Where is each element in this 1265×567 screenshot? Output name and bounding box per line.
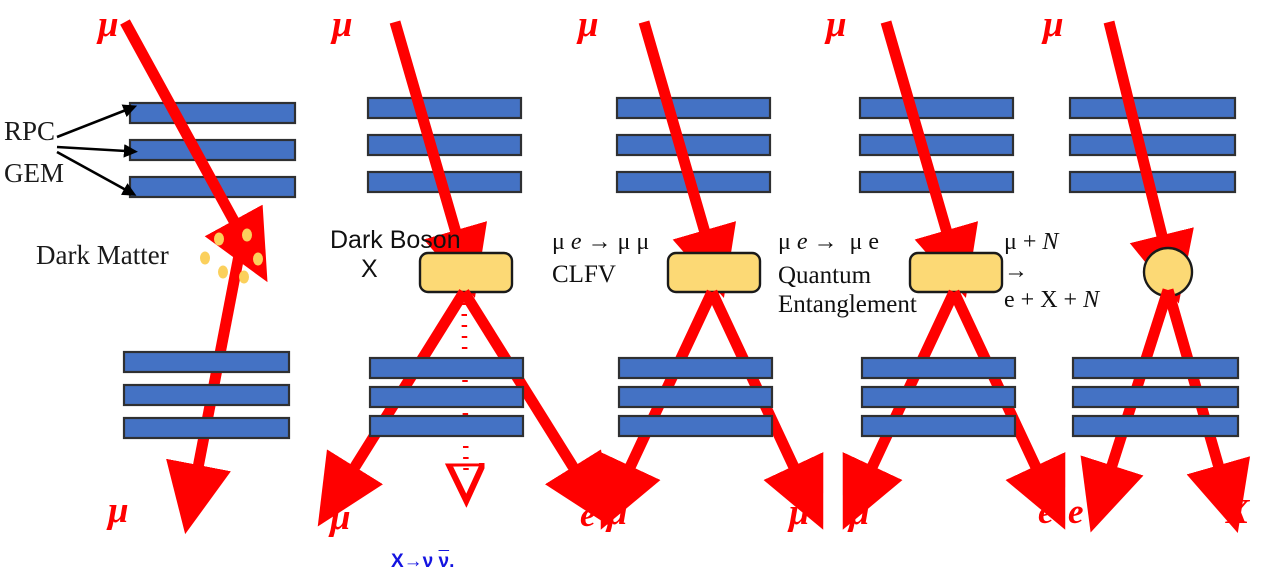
- detector-plane: [1073, 416, 1238, 436]
- detector-plane: [124, 418, 289, 438]
- detector-plane: [860, 135, 1013, 155]
- incoming-muon-label: μ: [826, 4, 847, 45]
- annotation-arrow-icon: [57, 110, 126, 137]
- annotation-arrow-icon: [57, 147, 126, 151]
- conversion-formula-line1-prefix: μ +: [1004, 229, 1042, 255]
- entanglement-formula: μ e → μ e: [778, 229, 879, 256]
- target-nucleus: [1144, 248, 1192, 296]
- outgoing-electron-track: [1108, 290, 1168, 478]
- entanglement-process-name-line2: Entanglement: [778, 291, 917, 319]
- dark-matter-dot: [239, 271, 249, 284]
- detector-plane: [1070, 98, 1235, 118]
- detector-plane: [619, 387, 772, 407]
- conversion-formula-arrow: →: [1004, 258, 1028, 285]
- dark-boson-caption: Dark Boson: [330, 226, 461, 254]
- decay-mode-neutrinos-suffix: ,: [449, 551, 454, 567]
- detector-plane: [862, 358, 1015, 378]
- target-block: [420, 253, 512, 292]
- lower-detector-stack: [619, 358, 772, 436]
- detector-plane: [860, 98, 1013, 118]
- conversion-formula-line1-nucleus: N: [1042, 229, 1058, 255]
- outgoing-muon-label-left: μ: [607, 492, 628, 533]
- outgoing-electron-track: [464, 292, 580, 478]
- outgoing-electron-label: e: [580, 495, 596, 534]
- detector-plane: [130, 140, 295, 160]
- outgoing-muon-label: μ: [849, 492, 870, 533]
- clfv-formula: μ e → μ μ: [552, 229, 649, 256]
- detector-plane: [617, 98, 770, 118]
- annotation-arrow-icon: [57, 152, 126, 190]
- dark-matter-dot: [214, 233, 224, 246]
- incoming-muon-label: μ: [1043, 4, 1064, 45]
- incoming-muon-track: [886, 22, 950, 243]
- target-block: [910, 253, 1002, 292]
- entanglement-formula-suffix: → μ e: [808, 229, 880, 255]
- panel-muon-to-electron-conversion: [1070, 22, 1238, 478]
- entanglement-formula-prefix: μ: [778, 229, 797, 255]
- clfv-formula-prefix: μ: [552, 229, 571, 255]
- clfv-formula-suffix: → μ μ: [582, 229, 650, 255]
- clfv-process-name: CLFV: [552, 261, 616, 289]
- lower-detector-stack: [370, 358, 523, 436]
- outgoing-muon-track: [867, 292, 954, 478]
- detector-plane: [617, 135, 770, 155]
- detector-plane: [368, 135, 521, 155]
- lower-detector-stack: [124, 352, 289, 438]
- conversion-formula-line1: μ + N: [1004, 229, 1058, 256]
- outgoing-electron-label: e: [1038, 492, 1054, 531]
- dark-boson-symbol: X: [361, 255, 378, 283]
- outgoing-muon-track-right: [712, 292, 799, 478]
- outgoing-muon-label: μ: [330, 497, 351, 538]
- figure-canvas: RPC GEM μ Dark Matter μ μ Dark Boson X μ…: [0, 0, 1265, 567]
- outgoing-electron-track: [954, 292, 1041, 478]
- outgoing-electron-label: e: [1068, 492, 1084, 531]
- outgoing-X-track: [1168, 290, 1222, 478]
- clfv-formula-electron: e: [571, 229, 582, 255]
- detector-plane: [1073, 358, 1238, 378]
- outgoing-muon-track: [348, 292, 464, 478]
- incoming-muon-label: μ: [578, 4, 599, 45]
- dark-boson-decay-modes: X→ν ν, X→e+ e-: [391, 498, 467, 567]
- detector-plane: [862, 387, 1015, 407]
- conversion-formula-line3: e + X + N: [1004, 287, 1099, 314]
- dark-matter-dot: [200, 252, 210, 265]
- detector-plane: [130, 103, 295, 123]
- detector-plane: [619, 416, 772, 436]
- gem-label: GEM: [4, 158, 64, 188]
- annotation-arrows: [57, 110, 126, 190]
- detector-plane: [124, 352, 289, 372]
- detector-plane: [1070, 135, 1235, 155]
- target-block: [668, 253, 760, 292]
- decay-mode-antineutrino: ν: [439, 551, 450, 567]
- rpc-label: RPC: [4, 116, 55, 146]
- conversion-formula-line3-prefix: e + X +: [1004, 287, 1083, 313]
- incoming-muon-label: μ: [332, 4, 353, 45]
- incoming-muon-label: μ: [98, 4, 119, 45]
- detector-plane: [370, 387, 523, 407]
- incoming-muon-track: [125, 22, 240, 232]
- entanglement-formula-electron: e: [797, 229, 808, 255]
- detector-plane: [619, 358, 772, 378]
- dark-boson-decay-track: [464, 292, 466, 470]
- detector-plane: [124, 385, 289, 405]
- outgoing-X-label: X: [1226, 492, 1249, 531]
- outgoing-muon-label-right: μ: [789, 492, 810, 533]
- decay-mode-neutrinos-prefix: X→ν: [391, 551, 439, 567]
- outgoing-muon-track-left: [625, 292, 712, 478]
- incoming-muon-track: [395, 22, 459, 243]
- detector-plane: [368, 98, 521, 118]
- dark-matter-dot: [218, 266, 228, 279]
- detector-plane: [370, 416, 523, 436]
- conversion-formula-line3-nucleus: N: [1083, 287, 1099, 313]
- dark-matter-dot: [253, 253, 263, 266]
- entanglement-process-name-line1: Quantum: [778, 262, 871, 290]
- lower-detector-stack: [1073, 358, 1238, 436]
- dark-matter-dot: [242, 229, 252, 242]
- outgoing-muon-label: μ: [108, 490, 129, 531]
- detector-plane: [370, 358, 523, 378]
- diagram-vector-layer: [0, 0, 1265, 567]
- lower-detector-stack: [862, 358, 1015, 436]
- incoming-muon-track: [644, 22, 708, 243]
- dark-matter-caption: Dark Matter: [36, 240, 169, 270]
- detector-plane: [1073, 387, 1238, 407]
- decay-mode-neutrinos: X→ν ν,: [391, 549, 467, 567]
- detector-plane: [862, 416, 1015, 436]
